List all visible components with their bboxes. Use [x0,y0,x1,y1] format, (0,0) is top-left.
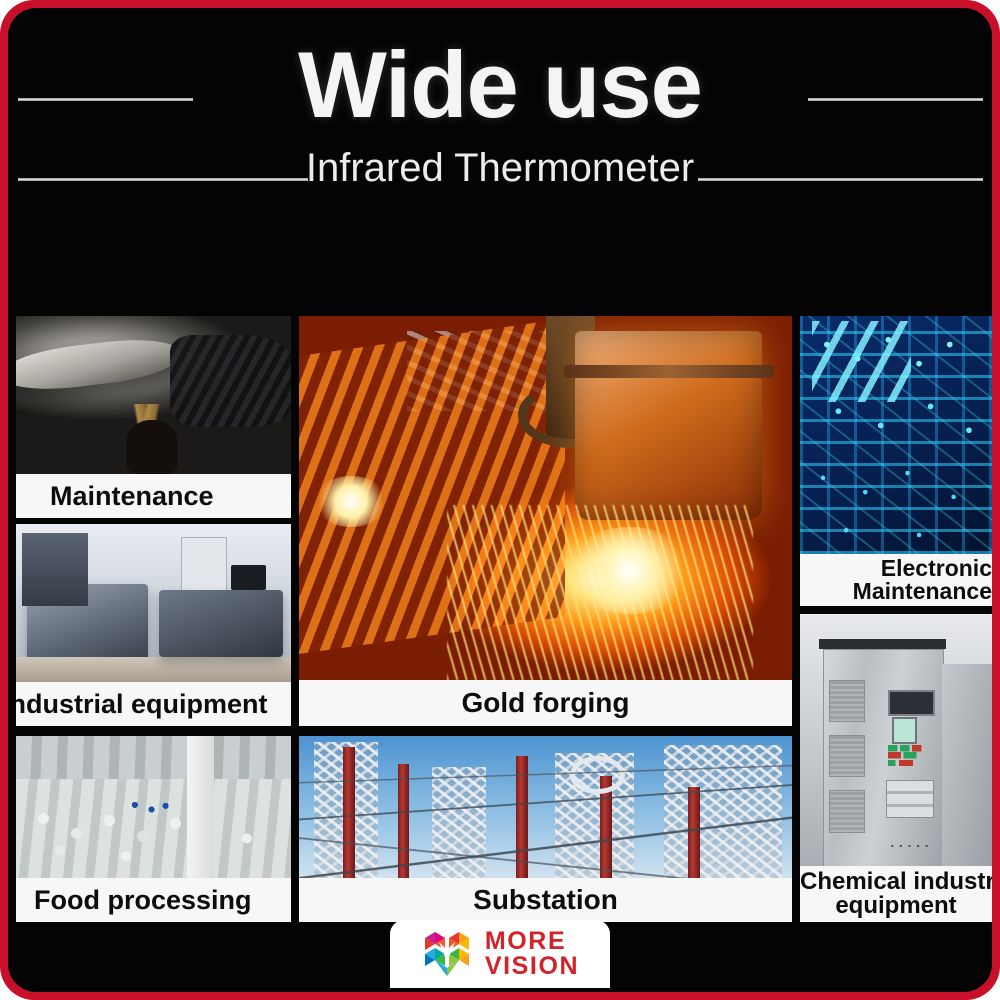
logo-wordmark: MORE VISION [485,929,579,979]
machine-panel-shape [181,537,227,593]
photo-chemical-industry-equipment [800,614,992,866]
blue-uniform-workers-shape [126,798,170,821]
panel-chemical-industry-equipment[interactable]: Chemical industry equipment [800,614,992,922]
page-title: Wide use [8,38,992,132]
panel-substation[interactable]: Substation [299,736,792,922]
grid-column-middle: Gold forging [299,308,792,928]
hmi-touchscreen-shape [892,717,917,744]
instrument-display-shape [888,690,934,717]
caption-chemical-line2: equipment [800,894,992,918]
workers-crowd-shape [16,779,291,878]
photo-industrial-equipment [16,524,291,682]
caption-electronic-maintenance-label: Electronic Maintenance [800,557,992,604]
promo-banner: Wide use Infrared Thermometer Maintena [0,0,1000,1000]
caption-industrial-equipment-label: Industrial equipment [16,689,268,720]
machine-sticker-shape [214,603,247,614]
cabinet-vent-1 [829,680,866,722]
molten-steel-image [299,316,792,680]
panel-maintenance[interactable]: Maintenance [16,316,291,518]
cabinet-vent-3 [829,790,866,832]
caption-food-processing-label: Food processing [34,885,252,916]
caption-gold-forging: Gold forging [299,680,792,726]
photo-electronic-maintenance [800,316,992,554]
car-underbody-image [16,316,291,474]
caption-maintenance: Maintenance [16,474,291,518]
cabinet-screws-shape [888,841,930,851]
caption-substation: Substation [299,878,792,922]
food-factory-image [16,736,291,878]
pcb-solder-pads-shape [800,316,992,554]
cabinet-top-rail-shape [819,639,946,649]
control-buttons-shape [886,780,934,817]
panel-gold-forging[interactable]: Gold forging [299,316,792,726]
electrical-substation-image [299,736,792,878]
caption-food-processing: Food processing [16,878,291,922]
grid-column-right: Electronic Maintenance [800,308,992,928]
panel-electronic-maintenance[interactable]: Electronic Maintenance [800,316,992,606]
factory-floor-shape [16,657,291,682]
brand-logo[interactable]: MORE VISION [390,920,610,988]
secondary-tank-shape [942,664,992,866]
more-vision-logo-icon [421,928,473,980]
circuit-board-image [800,316,992,554]
mechanic-head-shape [126,420,178,474]
panel-industrial-equipment[interactable]: Industrial equipment [16,524,291,726]
machine-cabinet-shape [22,533,88,606]
banner-inner: Wide use Infrared Thermometer Maintena [8,8,992,992]
caption-industrial-equipment: Industrial equipment [16,682,291,726]
application-grid: Maintenance Industrial e [8,308,992,928]
chemical-cabinet-image [800,614,992,866]
logo-line-1: MORE [485,929,579,954]
caption-substation-label: Substation [473,884,618,916]
cabinet-vent-2 [829,735,866,777]
caption-electronic-line2: Maintenance [800,580,992,603]
machine-monitor-shape [231,565,267,590]
caption-chemical-industry-equipment: Chemical industry equipment [800,866,992,922]
caption-chemical-line1: Chemical industry [800,870,992,894]
photo-gold-forging [299,316,792,680]
page-subtitle: Infrared Thermometer [8,148,992,188]
caption-electronic-line1: Electronic [800,557,992,580]
grid-column-left: Maintenance Industrial e [16,308,291,928]
logo-line-2: VISION [485,954,579,979]
light-flare-left [314,476,388,527]
panel-food-processing[interactable]: Food processing [16,736,291,922]
molten-pour-glow [565,527,693,614]
photo-substation [299,736,792,878]
steel-ladle-shape [575,331,762,520]
caption-chemical-industry-label: Chemical industry equipment [800,870,992,919]
caption-maintenance-label: Maintenance [50,481,214,512]
banner-header: Wide use Infrared Thermometer [8,8,992,308]
indicator-leds-shape [888,745,930,770]
power-lines-shape [299,736,792,878]
caption-gold-forging-label: Gold forging [462,687,630,719]
photo-food-processing [16,736,291,878]
caption-electronic-maintenance: Electronic Maintenance [800,554,992,606]
cnc-machines-image [16,524,291,682]
photo-maintenance [16,316,291,474]
